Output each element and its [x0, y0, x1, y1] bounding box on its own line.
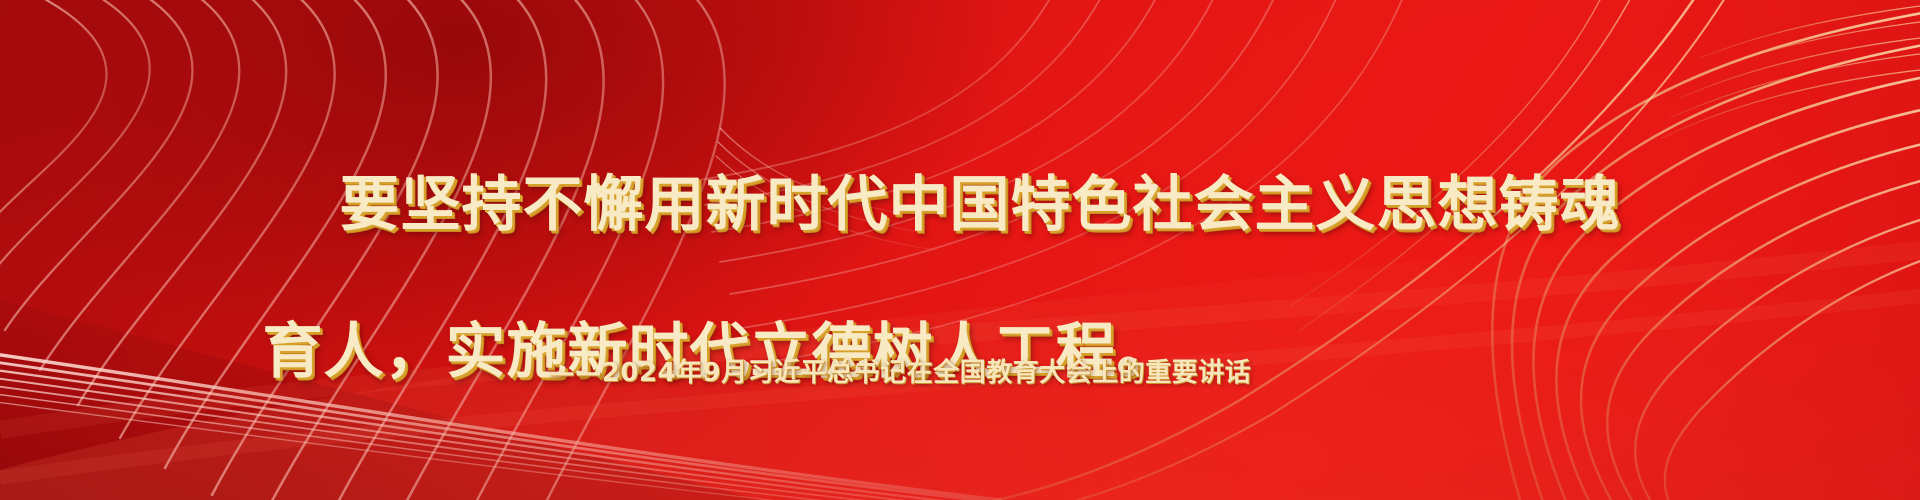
headline: 要坚持不懈用新时代中国特色社会主义思想铸魂 育人，实施新时代立德树人工程。	[0, 96, 1920, 462]
banner-content: 要坚持不懈用新时代中国特色社会主义思想铸魂 育人，实施新时代立德树人工程。 ——…	[0, 0, 1920, 500]
headline-line-1: 要坚持不懈用新时代中国特色社会主义思想铸魂	[0, 169, 1920, 242]
attribution-source: ——2024年9月习近平总书记在全国教育大会上的重要讲话	[0, 352, 1920, 389]
propaganda-banner: 要坚持不懈用新时代中国特色社会主义思想铸魂 育人，实施新时代立德树人工程。 ——…	[0, 0, 1920, 500]
